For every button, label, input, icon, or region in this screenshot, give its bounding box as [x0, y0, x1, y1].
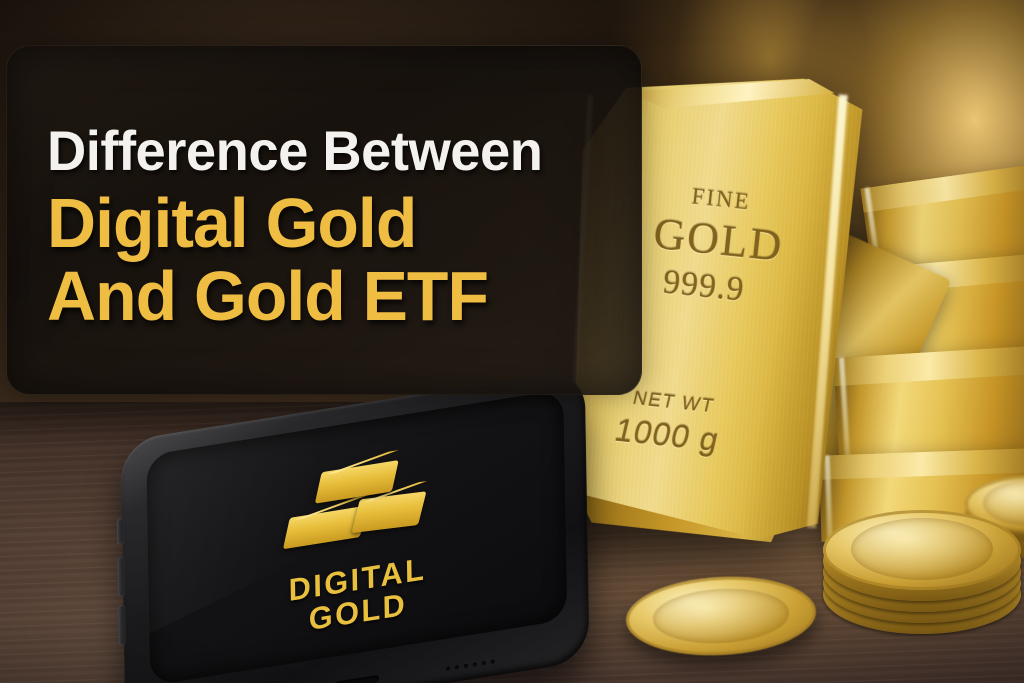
title-panel: Difference Between Digital Gold And Gold…	[6, 45, 642, 395]
gold-coin-stack-near	[823, 510, 1021, 590]
title-line-1: Difference Between	[47, 124, 610, 178]
gold-bar-back-middle	[833, 346, 1024, 462]
phone-volume-down-button[interactable]	[118, 605, 126, 646]
thumbnail-canvas: FINE GOLD 999.9 NET WT 1000 g	[0, 0, 1024, 683]
title-line-2: Digital Gold	[47, 190, 610, 257]
title-text-block: Difference Between Digital Gold And Gold…	[47, 124, 627, 330]
phone-app-title: DIGITAL GOLD	[288, 553, 427, 639]
phone-mute-switch[interactable]	[117, 518, 124, 545]
title-line-3: And Gold ETF	[47, 263, 610, 330]
logo-bar-bottom-right	[351, 491, 426, 533]
phone-volume-up-button[interactable]	[117, 556, 125, 597]
